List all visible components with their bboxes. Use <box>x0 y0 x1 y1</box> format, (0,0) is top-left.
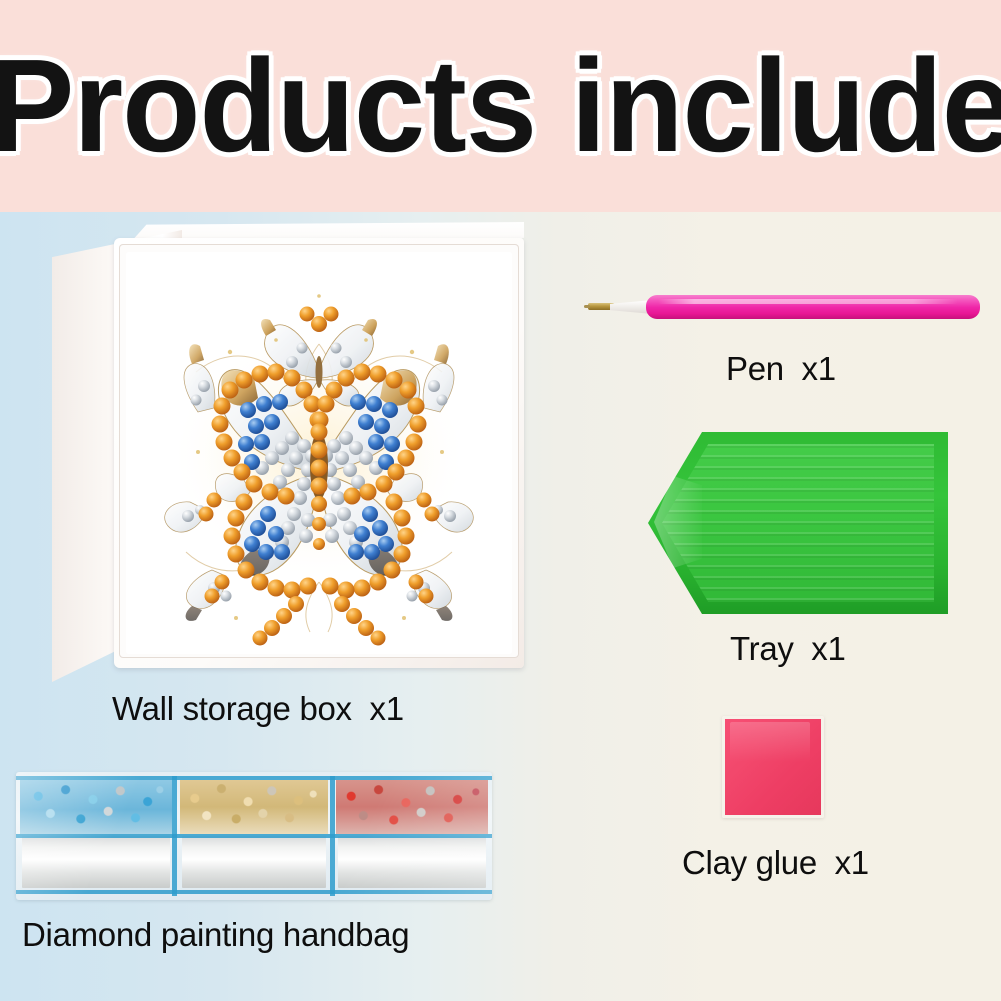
clay-glue-caption: Clay glue x1 <box>682 844 869 882</box>
blue-rhinestones <box>20 780 172 834</box>
wall-storage-box-image <box>52 222 524 682</box>
foil-strip <box>22 836 170 888</box>
product-infographic: Products include <box>0 0 1001 1001</box>
butterfly-artwork-svg <box>126 252 512 654</box>
foil-strip <box>338 836 486 888</box>
diamond-painting-handbag-image <box>16 772 492 900</box>
bag-divider-seam <box>330 776 335 896</box>
header-band: Products include <box>0 0 1001 212</box>
clay-glue-highlight <box>730 722 810 762</box>
pen-highlight <box>658 299 958 304</box>
page-title: Products include <box>15 0 986 212</box>
foil-strip <box>182 836 326 888</box>
red-rhinestones <box>336 780 488 834</box>
wall-storage-box-caption: Wall storage box x1 <box>112 690 404 728</box>
butterfly-artwork <box>126 252 512 654</box>
bag-bottom-seam <box>16 890 492 894</box>
pen-caption: Pen x1 <box>726 350 836 388</box>
box-front-face <box>114 238 524 668</box>
tray-spout-highlight <box>654 476 702 568</box>
tray-grooved-surface <box>662 444 934 602</box>
diamond-painting-handbag-caption: Diamond painting handbag <box>22 916 409 954</box>
bag-top-seam <box>16 776 492 780</box>
pen-image <box>588 290 984 324</box>
gold-rhinestones <box>180 780 328 834</box>
clay-glue-image <box>722 716 824 818</box>
tray-caption: Tray x1 <box>730 630 846 668</box>
bag-divider-seam <box>172 776 177 896</box>
bag-mid-seam <box>16 834 492 838</box>
tray-image <box>648 432 948 614</box>
